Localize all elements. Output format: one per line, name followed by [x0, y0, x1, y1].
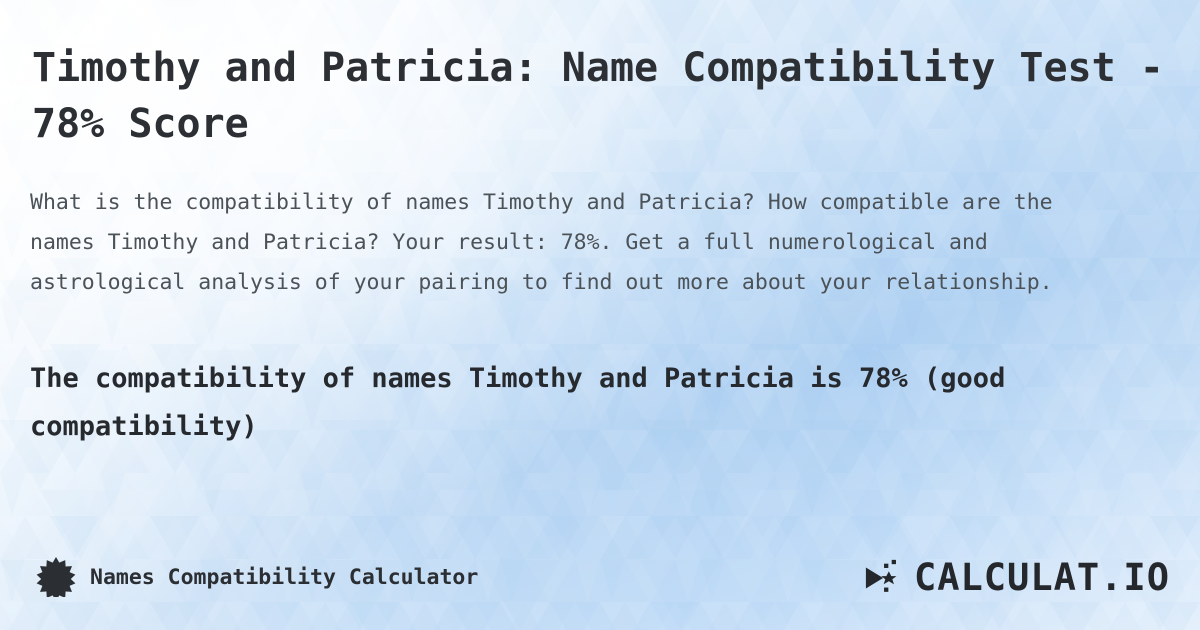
share-card: Timothy and Patricia: Name Compatibility…	[0, 0, 1200, 630]
footer: Names Compatibility Calculator CALCULAT.…	[0, 534, 1200, 630]
page-description: What is the compatibility of names Timot…	[30, 183, 1115, 303]
footer-label: Names Compatibility Calculator	[90, 565, 478, 590]
calculator-logo-icon	[864, 556, 906, 600]
page-title: Timothy and Patricia: Name Compatibility…	[32, 40, 1172, 152]
compatibility-result: The compatibility of names Timothy and P…	[30, 355, 1180, 451]
card-content: Timothy and Patricia: Name Compatibility…	[0, 0, 1200, 630]
footer-brand-right: CALCULAT.IO	[864, 556, 1170, 600]
footer-brand-left: Names Compatibility Calculator	[36, 557, 478, 597]
brand-wordmark: CALCULAT.IO	[914, 558, 1170, 598]
star-burst-icon	[36, 557, 76, 597]
